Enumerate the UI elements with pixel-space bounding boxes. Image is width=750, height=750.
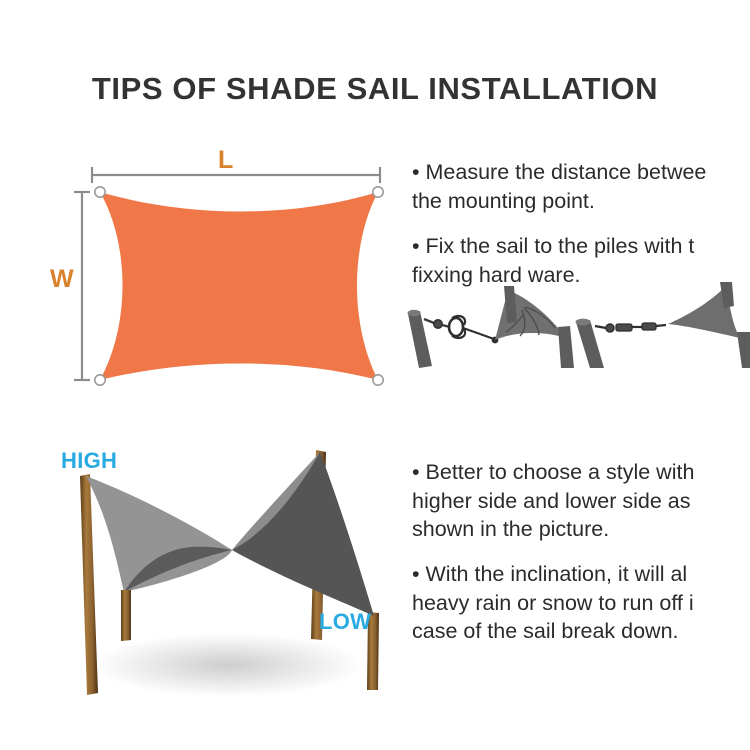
- length-dimension-line: [92, 167, 380, 183]
- post-icon: [408, 310, 433, 368]
- pole-high-left: [80, 474, 98, 695]
- hardware-left-svg: [398, 282, 580, 368]
- tip-choose-style: • Better to choose a style with higher s…: [412, 458, 694, 544]
- rectangular-sail-svg: [60, 140, 410, 400]
- tip-fix-sail: • Fix the sail to the piles with t fixxi…: [412, 232, 694, 289]
- inclined-sails-svg: [28, 440, 428, 710]
- tip-line: heavy rain or snow to run off i: [412, 589, 694, 618]
- low-side-label: LOW: [319, 611, 371, 633]
- tip-line: case of the sail break down.: [412, 617, 694, 646]
- turnbuckle-icon: [595, 323, 666, 332]
- tip-line: • Fix the sail to the piles with t: [412, 232, 694, 261]
- tip-measure-distance: • Measure the distance betwee the mounti…: [412, 158, 706, 215]
- tip-line: • With the inclination, it will al: [412, 560, 694, 589]
- bullet-icon: •: [412, 160, 420, 184]
- high-side-label: HIGH: [61, 450, 117, 472]
- tip-text: higher side and lower side as: [412, 489, 690, 513]
- inclined-sails-diagram: [28, 440, 428, 710]
- tip-line: • Better to choose a style with: [412, 458, 694, 487]
- ground-shadow: [93, 633, 363, 697]
- width-label: W: [50, 267, 74, 292]
- tip-line: higher side and lower side as: [412, 487, 694, 516]
- turnbuckle-icon: [424, 316, 494, 339]
- tip-text: shown in the picture.: [412, 517, 609, 541]
- bullet-icon: •: [412, 562, 420, 586]
- infographic-page: TIPS OF SHADE SAIL INSTALLATION: [0, 0, 750, 750]
- tip-inclination: • With the inclination, it will al heavy…: [412, 560, 694, 646]
- hardware-diagram-left: [398, 282, 580, 368]
- width-dimension-line: [74, 192, 90, 380]
- tip-line: shown in the picture.: [412, 515, 694, 544]
- tip-text: Fix the sail to the piles with t: [426, 234, 695, 258]
- bullet-icon: •: [412, 460, 420, 484]
- hardware-right-svg: [562, 282, 750, 368]
- page-title: TIPS OF SHADE SAIL INSTALLATION: [0, 72, 750, 106]
- tip-text: Measure the distance betwee: [426, 160, 707, 184]
- length-label: L: [218, 148, 233, 173]
- rectangular-sail-diagram: [60, 140, 410, 400]
- tip-line: • Measure the distance betwee: [412, 158, 706, 187]
- orange-sail-shape: [100, 192, 378, 380]
- tip-text: Better to choose a style with: [426, 460, 695, 484]
- hardware-diagram-right: [562, 282, 750, 368]
- bullet-icon: •: [412, 234, 420, 258]
- tip-line: the mounting point.: [412, 187, 706, 216]
- pole-low-left-front: [121, 590, 131, 641]
- tip-text: With the inclination, it will al: [426, 562, 688, 586]
- tip-text: the mounting point.: [412, 189, 595, 213]
- tip-text: case of the sail break down.: [412, 619, 679, 643]
- tip-text: heavy rain or snow to run off i: [412, 591, 694, 615]
